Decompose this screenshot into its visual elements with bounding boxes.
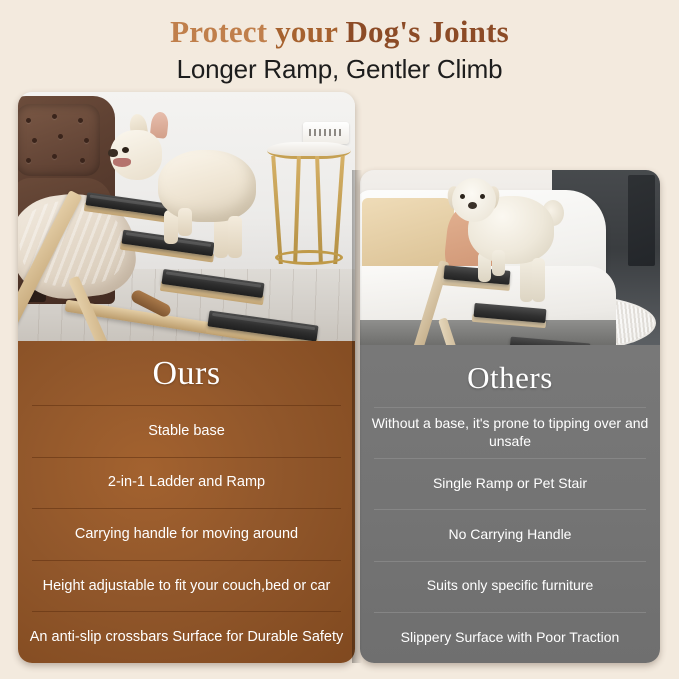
ours-product-photo	[18, 92, 355, 341]
ours-heading: Ours	[18, 341, 355, 405]
others-product-photo	[360, 170, 660, 345]
others-dog-leg-front-2	[492, 250, 505, 276]
page-root: { "header": { "title_part1": "Protect", …	[0, 0, 679, 679]
ours-feature-4: Height adjustable to fit your couch,bed …	[18, 560, 355, 612]
dog-leg-rear-2	[228, 216, 242, 258]
title-word-your: your	[275, 14, 337, 49]
title-word-dogs-joints: Dog's Joints	[345, 14, 508, 49]
dog-leg-front-2	[178, 208, 192, 236]
ours-panel: Ours Stable base 2-in-1 Ladder and Ramp …	[18, 341, 355, 663]
recliner-tufting	[22, 112, 96, 170]
others-dog-eye-left	[460, 194, 465, 199]
header: Protect your Dog's Joints Longer Ramp, G…	[0, 0, 679, 92]
title-word-protect: Protect	[170, 14, 267, 49]
dog-head	[110, 130, 162, 180]
ours-feature-1: Stable base	[18, 405, 355, 457]
dog-nose	[108, 149, 118, 157]
others-feature-3: No Carrying Handle	[360, 509, 660, 560]
others-dog-head	[452, 178, 496, 222]
photo-glass-panel	[628, 175, 655, 266]
ours-feature-list: Stable base 2-in-1 Ladder and Ramp Carry…	[18, 405, 355, 663]
others-feature-5: Slippery Surface with Poor Traction	[360, 612, 660, 663]
others-feature-2: Single Ramp or Pet Stair	[360, 458, 660, 509]
dog-body	[158, 150, 256, 222]
page-subtitle: Longer Ramp, Gentler Climb	[0, 53, 679, 85]
others-card: Others Without a base, it's prone to tip…	[360, 170, 660, 663]
others-panel: Others Without a base, it's prone to tip…	[360, 345, 660, 663]
others-feature-4: Suits only specific furniture	[360, 561, 660, 612]
dog-mouth	[113, 158, 131, 167]
others-dog-leg-rear-2	[532, 258, 545, 302]
others-dog-nose	[468, 202, 477, 209]
others-dog-eye-right	[480, 194, 485, 199]
side-table-ring	[275, 250, 343, 265]
white-sofa-base	[360, 320, 616, 345]
others-feature-list: Without a base, it's prone to tipping ov…	[360, 407, 660, 663]
dog-eye	[122, 147, 129, 153]
others-heading: Others	[360, 345, 660, 407]
ours-feature-5: An anti-slip crossbars Surface for Durab…	[18, 611, 355, 663]
others-feature-1: Without a base, it's prone to tipping ov…	[360, 407, 660, 458]
ours-feature-3: Carrying handle for moving around	[18, 508, 355, 560]
ours-card: Ours Stable base 2-in-1 Ladder and Ramp …	[18, 92, 355, 663]
side-table-object	[303, 122, 349, 144]
page-title: Protect your Dog's Joints	[0, 12, 679, 52]
ours-feature-2: 2-in-1 Ladder and Ramp	[18, 457, 355, 509]
